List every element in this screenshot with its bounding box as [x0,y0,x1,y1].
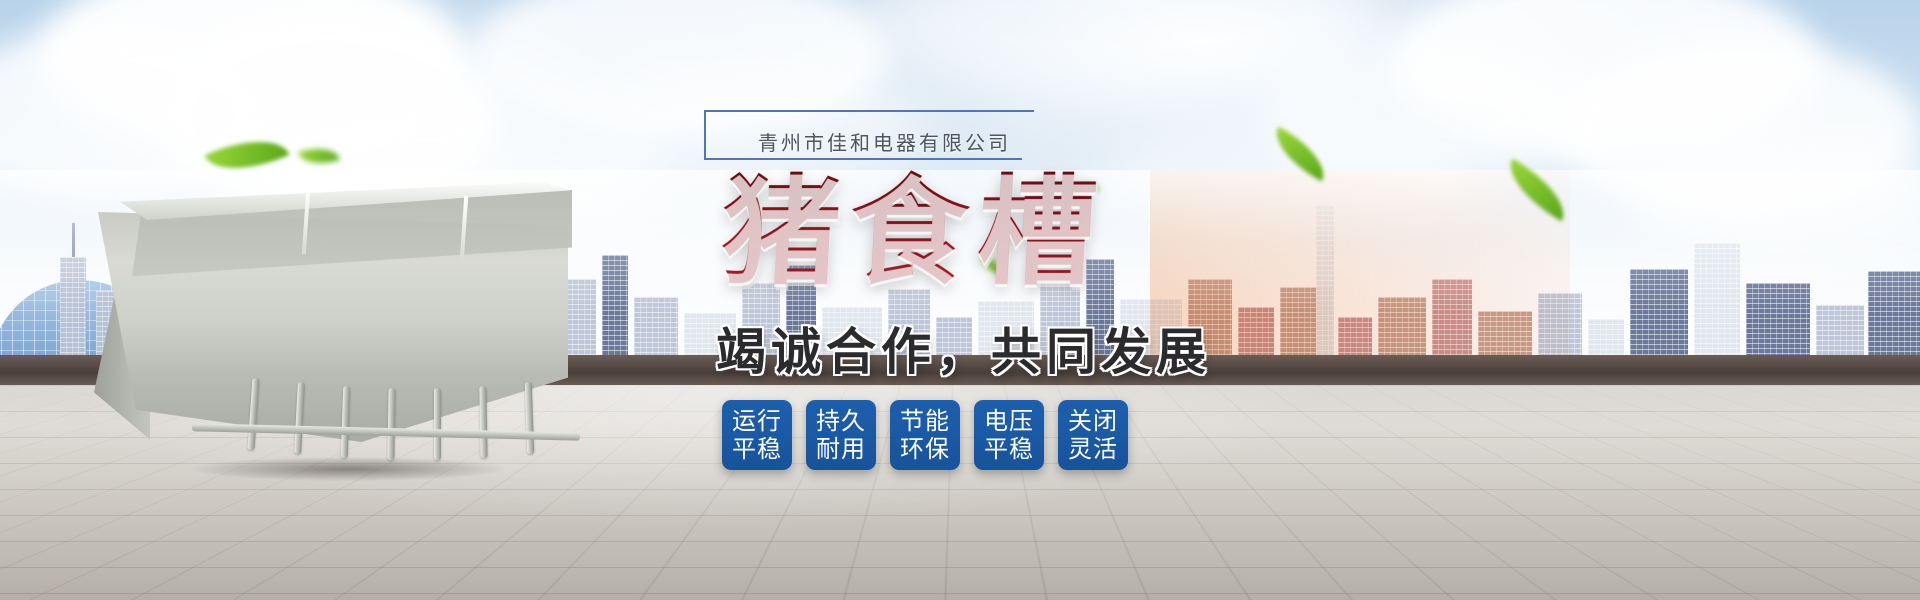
badge-line-1: 运行 [732,407,782,435]
trough-bar [341,386,351,458]
badge-line-2: 灵活 [1068,435,1118,463]
badge-stable-operation[interactable]: 运行 平稳 [722,400,792,470]
badge-line-2: 平稳 [984,435,1034,463]
badge-line-2: 环保 [900,435,950,463]
badge-line-2: 耐用 [816,435,866,463]
page-title: 猪食槽 [719,170,1110,294]
promotional-banner: 青州市佳和电器有限公司 猪食槽 竭诚合作，共同发展 运行 平稳 持久 耐用 节能… [0,0,1920,600]
badge-line-1: 节能 [900,407,950,435]
badge-eco[interactable]: 节能 环保 [890,400,960,470]
product-image-pig-feeding-trough [72,160,592,490]
badge-line-1: 持久 [816,407,866,435]
badge-stable-voltage[interactable]: 电压 平稳 [974,400,1044,470]
subtitle-slogan: 竭诚合作，共同发展 [716,312,1211,384]
badge-flexible-close[interactable]: 关闭 灵活 [1058,400,1128,470]
feature-badge-list: 运行 平稳 持久 耐用 节能 环保 电压 平稳 关闭 灵活 [722,400,1128,470]
company-name: 青州市佳和电器有限公司 [758,127,1011,156]
badge-durable[interactable]: 持久 耐用 [806,400,876,470]
company-name-frame: 青州市佳和电器有限公司 [700,100,1120,170]
badge-line-1: 电压 [984,407,1034,435]
trough-bar [479,386,487,458]
badge-line-1: 关闭 [1068,407,1118,435]
copy-block: 青州市佳和电器有限公司 猪食槽 竭诚合作，共同发展 运行 平稳 持久 耐用 节能… [700,100,1340,550]
trough-bar [434,388,441,460]
badge-line-2: 平稳 [732,435,782,463]
decorative-frame-top-line [704,110,1034,112]
trough-bar [387,388,395,460]
product-shadow [128,452,568,486]
trough-bar [525,382,535,454]
